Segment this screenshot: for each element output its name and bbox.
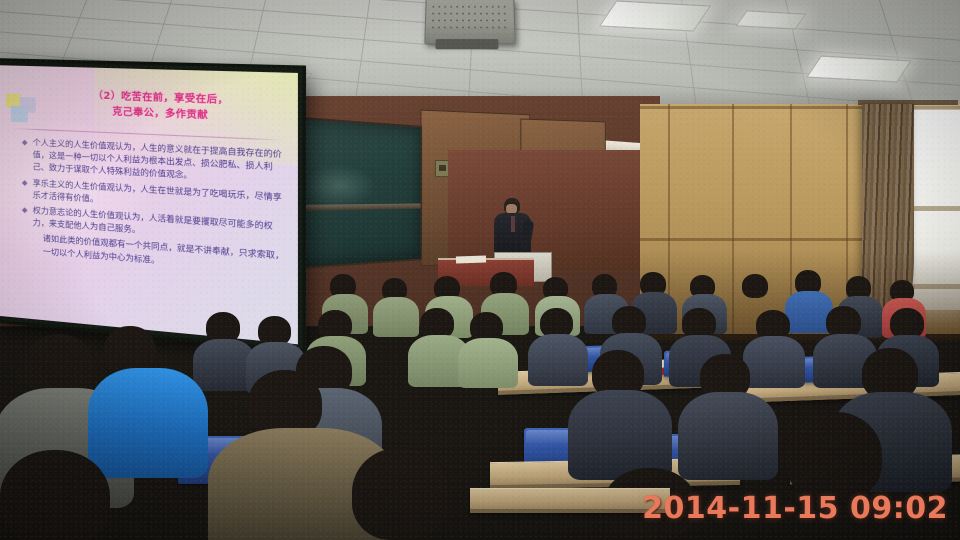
fluorescent-light-panel — [599, 0, 711, 31]
chalkboard — [288, 116, 422, 270]
fluorescent-light-panel — [806, 56, 912, 83]
lecturer-tie — [511, 216, 515, 232]
camera-timestamp: 2014-11-15 09:02 — [642, 491, 948, 526]
fluorescent-light-panel — [735, 10, 806, 29]
desk — [470, 488, 670, 513]
projector-lens — [435, 39, 498, 49]
ceiling-projector — [424, 0, 515, 44]
projector-vents — [430, 3, 511, 33]
slide-decoration-icon — [6, 94, 40, 126]
lecture-hall-photo: （2）吃苦在前，享受在后， 克己奉公，多作贡献 个人主义的人生价值观认为，人生的… — [0, 0, 960, 540]
slide-title: （2）吃苦在前，享受在后， 克己奉公，多作贡献 — [39, 87, 289, 127]
chalkboard-sheen — [302, 163, 377, 207]
